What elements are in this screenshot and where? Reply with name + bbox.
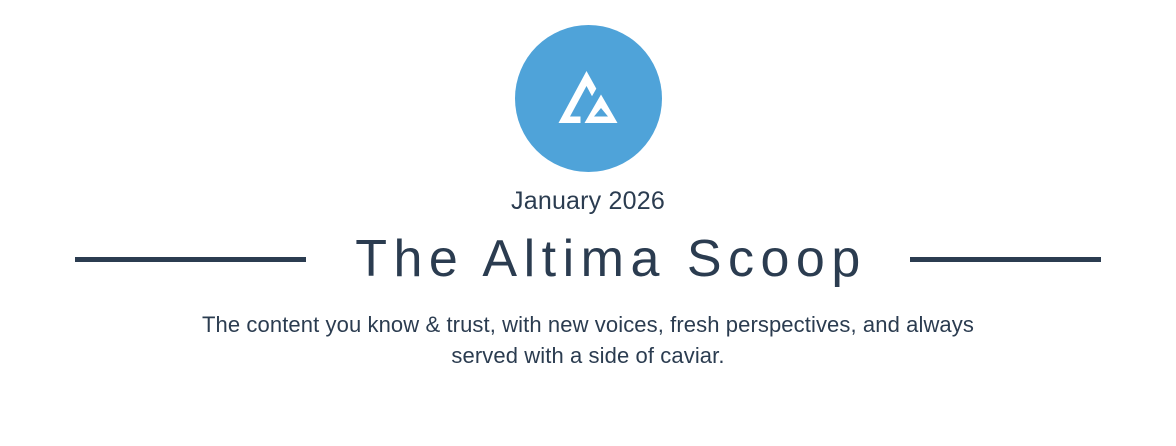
title-row: The Altima Scoop <box>0 232 1176 287</box>
title-rule-right <box>910 257 1101 262</box>
tagline: The content you know & trust, with new v… <box>148 309 1028 371</box>
logo-container <box>515 25 662 172</box>
altima-triangle-logo-icon <box>556 69 620 129</box>
newsletter-masthead: January 2026 The Altima Scoop The conten… <box>0 0 1176 446</box>
title-rule-left <box>75 257 306 262</box>
page-title: The Altima Scoop <box>355 232 867 287</box>
issue-date: January 2026 <box>511 189 665 214</box>
logo-circle-badge <box>515 25 662 172</box>
tagline-line-1: The content you know & trust, with new v… <box>148 309 1028 340</box>
tagline-line-2: served with a side of caviar. <box>148 340 1028 371</box>
